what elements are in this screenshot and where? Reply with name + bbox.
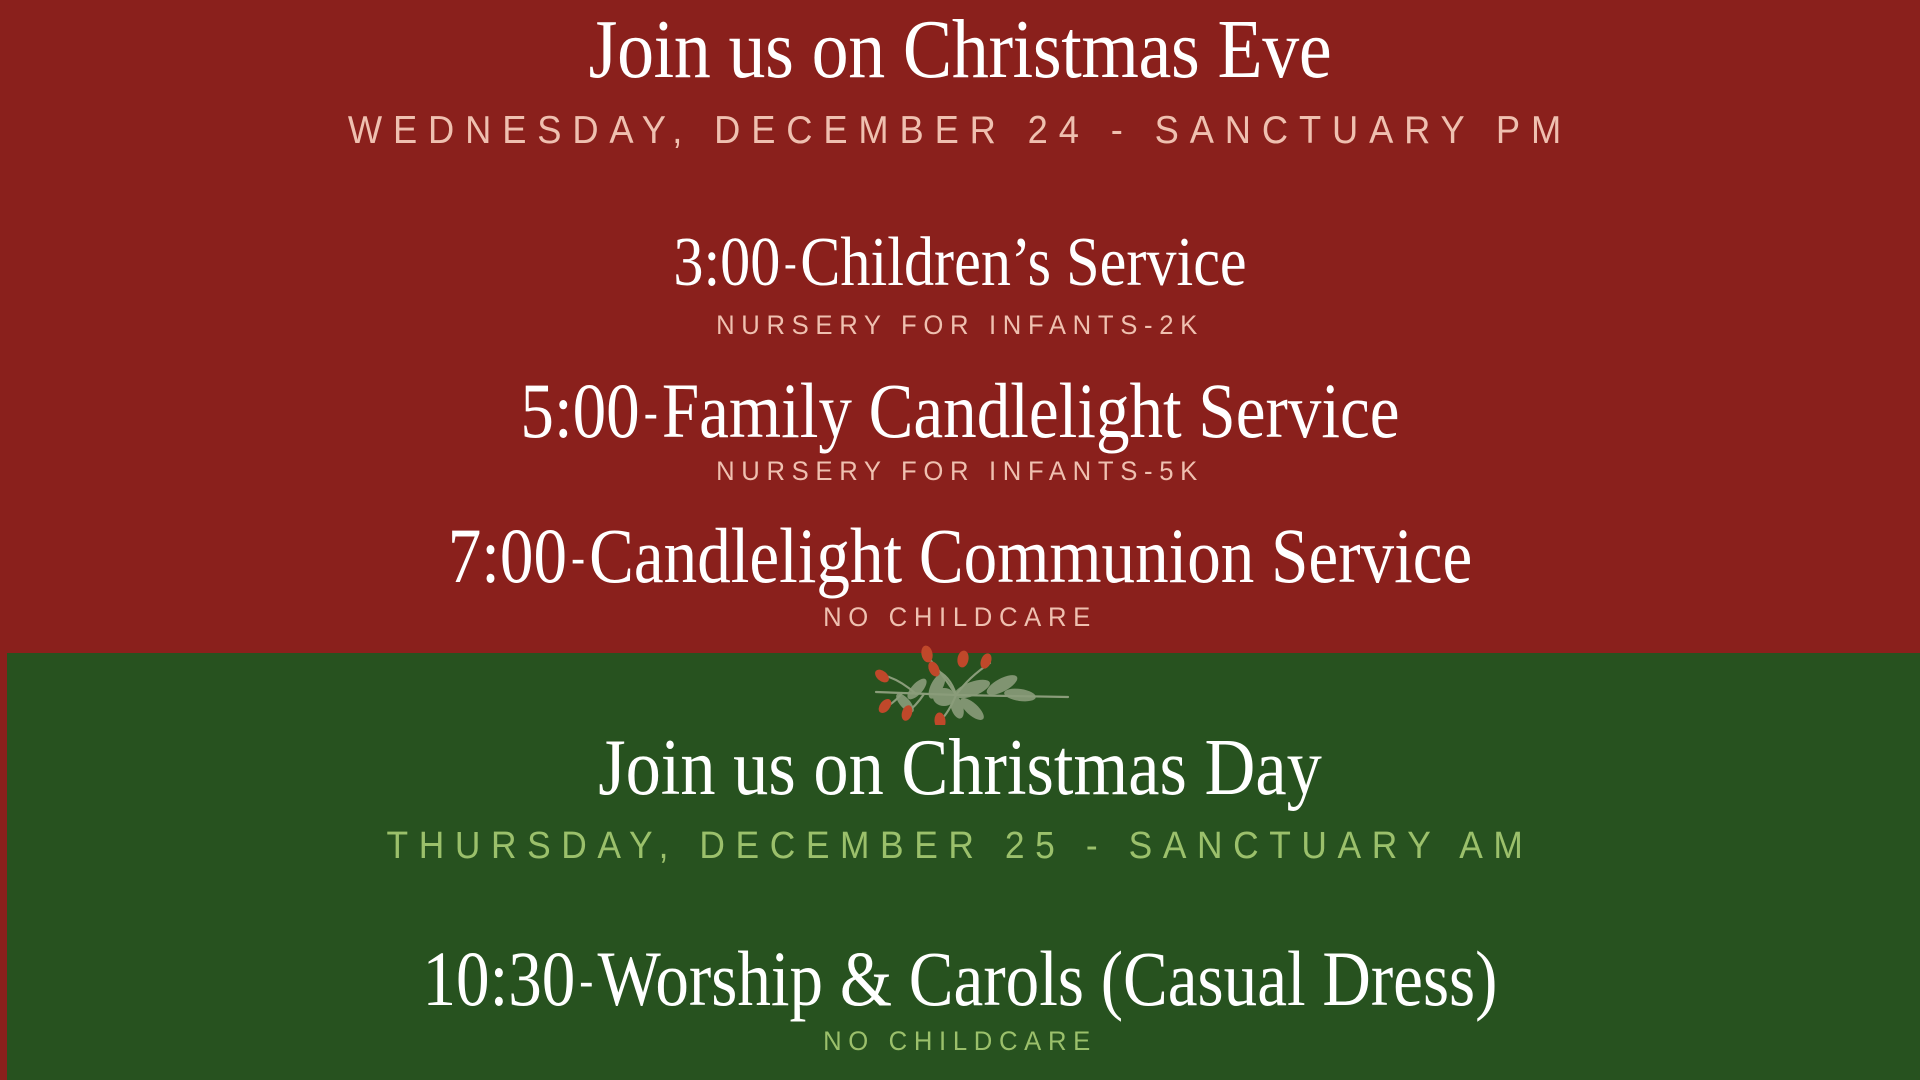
- panel-left-edge-stripe: [0, 653, 7, 1080]
- service-dash: -: [780, 239, 800, 287]
- service-dash: -: [567, 531, 589, 584]
- service-row: 3:00-Children’s Service: [134, 228, 1785, 298]
- service-time: 7:00: [448, 512, 567, 599]
- service-name: Worship & Carols (Casual Dress): [597, 935, 1497, 1022]
- service-note: NURSERY FOR INFANTS-5K: [48, 458, 1872, 485]
- service-time: 5:00: [520, 367, 639, 454]
- service-dash: -: [575, 954, 597, 1007]
- service-note: NO CHILDCARE: [48, 604, 1872, 631]
- christmas-day-title: Join us on Christmas Day: [115, 728, 1805, 808]
- service-dash: -: [640, 386, 662, 439]
- service-row: 10:30-Worship & Carols (Casual Dress): [134, 940, 1785, 1018]
- service-note: NURSERY FOR INFANTS-2K: [48, 312, 1872, 339]
- service-note: NO CHILDCARE: [48, 1028, 1872, 1055]
- service-row: 7:00-Candlelight Communion Service: [134, 517, 1785, 595]
- service-name: Children’s Service: [800, 224, 1246, 301]
- christmas-eve-title: Join us on Christmas Eve: [115, 8, 1805, 92]
- service-name: Family Candlelight Service: [662, 367, 1400, 454]
- christmas-eve-subhead: WEDNESDAY, DECEMBER 24 - SANCTUARY PM: [67, 108, 1853, 154]
- service-time: 3:00: [673, 224, 780, 301]
- christmas-day-subhead: THURSDAY, DECEMBER 25 - SANCTUARY AM: [67, 824, 1853, 869]
- service-name: Candlelight Communion Service: [589, 512, 1472, 599]
- service-row: 5:00-Family Candlelight Service: [134, 372, 1785, 450]
- slide-canvas: Join us on Christmas Eve WEDNESDAY, DECE…: [0, 0, 1920, 1080]
- service-time: 10:30: [422, 935, 575, 1022]
